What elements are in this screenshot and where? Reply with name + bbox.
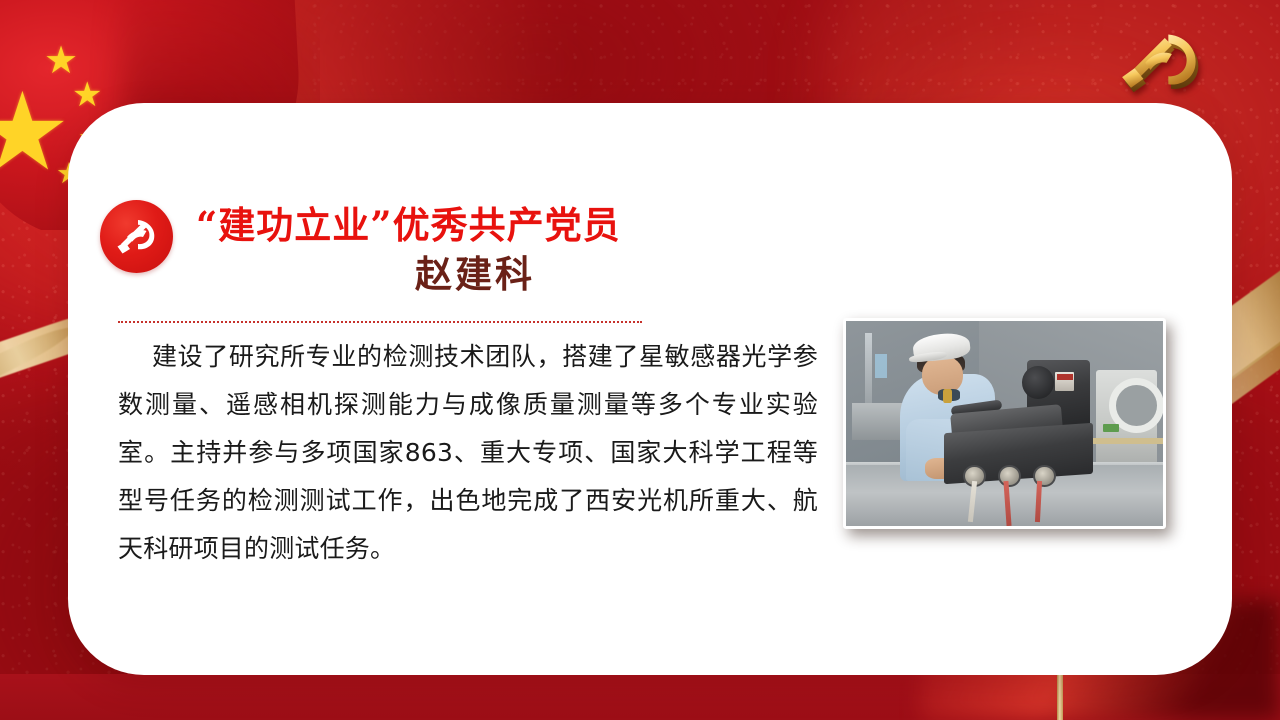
lab-photo [843, 318, 1166, 529]
dotted-divider [118, 321, 642, 323]
photo-equipment-port-2 [998, 465, 1021, 487]
person-name: 赵建科 [196, 250, 836, 298]
slide-root: ★ ★ ★ ★ ★ [0, 0, 1280, 720]
flag-star-small-2: ★ [72, 78, 102, 112]
body-paragraph: 建设了研究所专业的检测技术团队，搭建了星敏感器光学参数测量、遥感相机探测能力与成… [118, 333, 818, 573]
page-title: “建功立业”优秀共产党员 [196, 204, 836, 248]
photo-blue-panel [875, 354, 888, 379]
photo-equipment-red-strip [1057, 374, 1073, 380]
flag-star-small-1: ★ [44, 42, 78, 80]
photo-green-marker [1103, 424, 1119, 432]
party-emblem-hammer-sickle-icon [100, 200, 173, 273]
photo-equipment-lens [1022, 366, 1054, 399]
party-emblem-gold-icon [1108, 22, 1218, 102]
photo-left-box [852, 403, 903, 440]
photo-person-tie [943, 389, 953, 403]
photo-right-shelf [1087, 438, 1163, 444]
title-block: “建功立业”优秀共产党员 赵建科 [196, 204, 836, 298]
